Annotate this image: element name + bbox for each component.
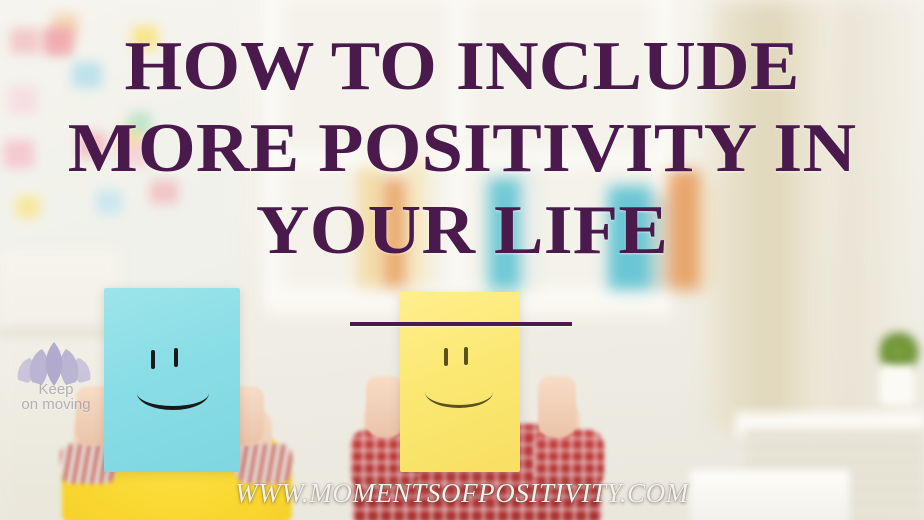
headline-line-2: MORE POSITIVITY IN — [0, 116, 924, 182]
smiley-blue-eye-left — [151, 350, 155, 369]
pin-graphic-canvas: HOW TO INCLUDE MORE POSITIVITY IN YOUR L… — [0, 0, 924, 520]
smiley-paper-yellow — [400, 292, 520, 472]
smiley-yellow-eye-right — [464, 347, 468, 365]
headline-block: HOW TO INCLUDE MORE POSITIVITY IN YOUR L… — [0, 34, 924, 263]
smiley-yellow-eye-left — [444, 348, 448, 366]
headline-line-3: YOUR LIFE — [0, 198, 924, 264]
watermark-line-1: Keep — [2, 382, 110, 397]
headline-divider-rule — [350, 322, 572, 326]
site-url: WWW.MOMENTSOFPOSITIVITY.COM — [0, 478, 924, 509]
left-cabinet-edge — [0, 330, 120, 335]
child-right-hand-right — [538, 376, 576, 438]
watermark-logo: Keep on moving — [2, 340, 110, 426]
smiley-blue-mouth — [137, 376, 209, 410]
smiley-yellow-mouth — [425, 376, 493, 408]
watermark-line-2: on moving — [2, 397, 110, 412]
smiley-paper-blue — [104, 288, 240, 472]
child-right-hand-left — [366, 376, 404, 438]
potted-plant-pot — [880, 365, 914, 405]
watermark-text: Keep on moving — [2, 382, 110, 413]
smiley-blue-eye-right — [174, 348, 178, 367]
headline-line-1: HOW TO INCLUDE — [0, 34, 924, 100]
